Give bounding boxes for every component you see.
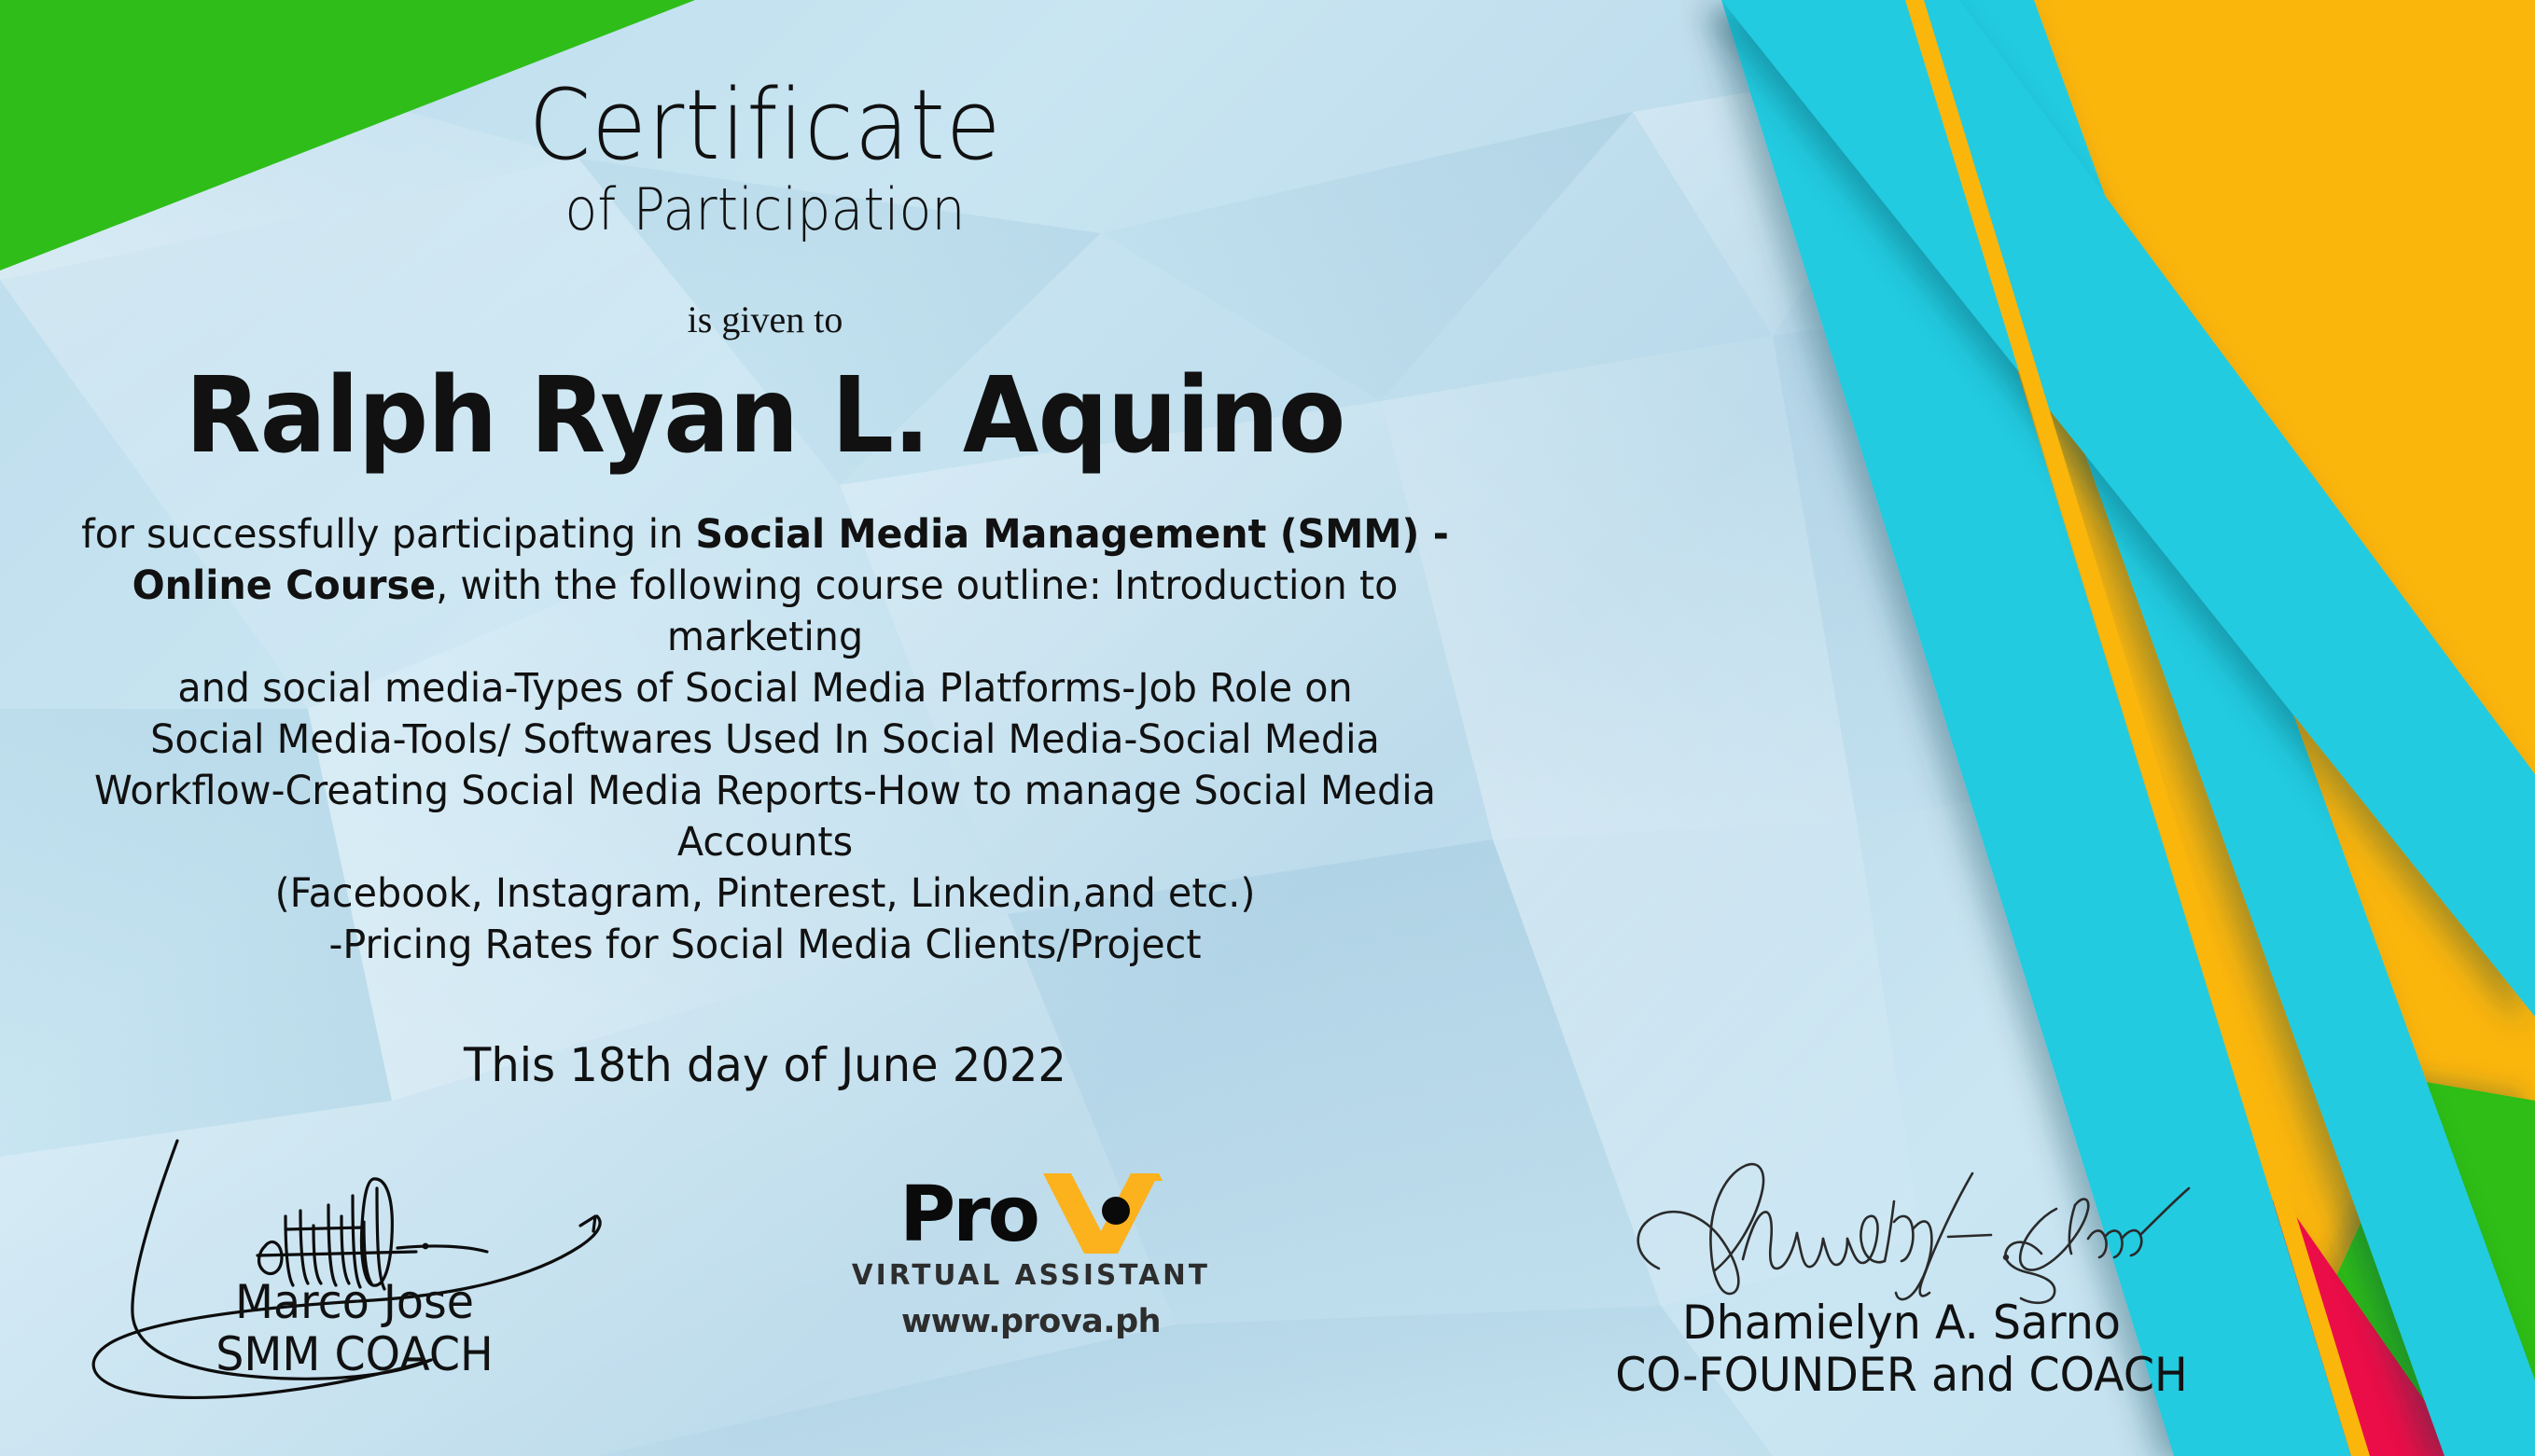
logo-website-url: www.prova.ph [821, 1303, 1241, 1340]
description-line: Workflow-Creating Social Media Reports-H… [63, 766, 1467, 868]
logo-wordmark: Pro [821, 1173, 1241, 1254]
description-line: and social media-Types of Social Media P… [63, 663, 1467, 714]
given-to-label: is given to [0, 298, 1530, 341]
signature-mark-dhamielyn-sarno [1491, 1157, 2312, 1297]
description-bold: Social Media Management (SMM) - [695, 511, 1448, 558]
signature-mark-marco-jose [93, 1136, 616, 1276]
logo-pro-text: Pro [899, 1177, 1038, 1254]
description-text: , with the following course outline: Int… [436, 562, 1398, 660]
logo-va-mark [1039, 1173, 1163, 1254]
certificate-subtitle: of Participation [62, 179, 1469, 240]
signature-role-right: CO-FOUNDER and COACH [1511, 1349, 2291, 1401]
description-line: Online Course, with the following course… [63, 561, 1467, 663]
course-description: for successfully participating in Social… [31, 509, 1499, 971]
signature-block-left: Marco Jose SMM COACH [93, 1136, 616, 1380]
description-text: for successfully participating in [81, 511, 695, 558]
description-line: (Facebook, Instagram, Pinterest, Linkedi… [63, 868, 1467, 920]
description-bold: Online Course [132, 562, 437, 609]
description-line: -Pricing Rates for Social Media Clients/… [63, 920, 1467, 971]
signature-role-left: SMM COACH [106, 1328, 603, 1380]
certificate-canvas: Certificate of Participation is given to… [0, 0, 2535, 1456]
prova-logo: Pro VIRTUAL ASSISTANT www.prova.ph [821, 1173, 1241, 1340]
logo-tagline: VIRTUAL ASSISTANT [826, 1259, 1237, 1292]
certificate-content: Certificate of Participation is given to… [0, 0, 1530, 1092]
signature-name-left: Marco Jose [106, 1276, 603, 1328]
description-line: for successfully participating in Social… [63, 509, 1467, 561]
signature-name-right: Dhamielyn A. Sarno [1511, 1297, 2291, 1349]
signature-block-right: Dhamielyn A. Sarno CO-FOUNDER and COACH [1491, 1157, 2312, 1401]
page-title: Certificate [62, 76, 1469, 173]
description-line: Social Media-Tools/ Softwares Used In So… [63, 714, 1467, 766]
issue-date: This 18th day of June 2022 [31, 1038, 1499, 1092]
recipient-name: Ralph Ryan L. Aquino [46, 362, 1484, 472]
